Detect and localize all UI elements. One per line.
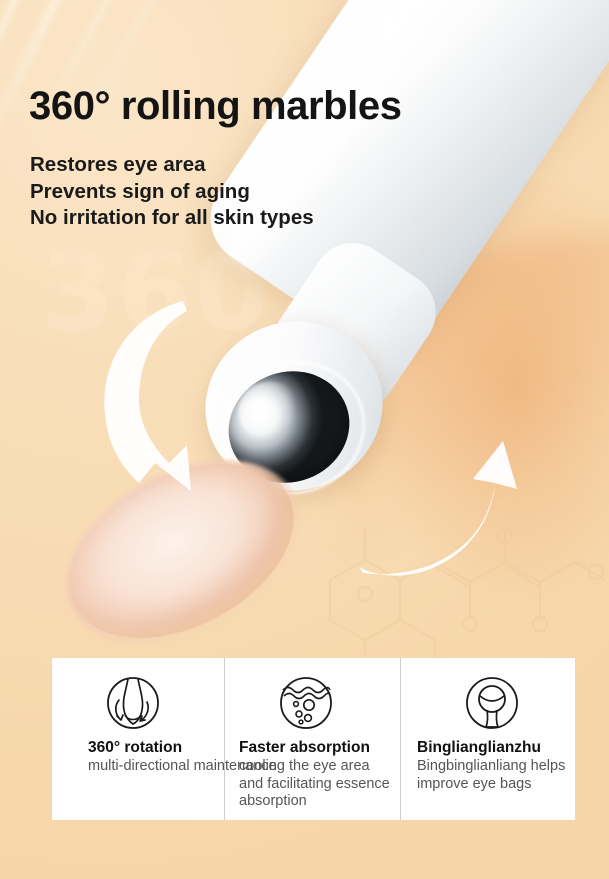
roller-rotation-icon	[102, 672, 164, 734]
feature-title: 360° rotation	[88, 738, 212, 757]
water-bubbles-absorption-icon	[275, 672, 337, 734]
hero-subheadings: Restores eye area Prevents sign of aging…	[30, 152, 314, 232]
feature-icon-wrap	[417, 672, 567, 734]
roller-ball-applicator-icon	[461, 672, 523, 734]
feature-icon-wrap	[239, 672, 392, 734]
feature-body: Bingbinglianliang helps improve eye bags	[417, 758, 567, 793]
feature-title: Faster absorption	[239, 738, 392, 757]
feature-panel: 360° rotation multi-directional maintena…	[52, 658, 575, 820]
feature-icon-wrap	[88, 672, 212, 734]
feature-column-rotation: 360° rotation multi-directional maintena…	[52, 658, 224, 820]
feature-title: Binglianglianzhu	[417, 738, 567, 757]
hero-subline: Prevents sign of aging	[30, 179, 314, 206]
rotation-arrow-left-icon	[95, 295, 240, 495]
hero-subline: No irritation for all skin types	[30, 205, 314, 232]
rotation-arrow-right-icon	[355, 435, 520, 585]
feature-body: cooling the eye area and facilitating es…	[239, 758, 392, 811]
product-marketing-image: 360 360° rolling marbles	[0, 0, 609, 879]
page-title: 360° rolling marbles	[29, 84, 402, 129]
hero-subline: Restores eye area	[30, 152, 314, 179]
feature-column-eyebags: Binglianglianzhu Bingbinglianliang helps…	[400, 658, 575, 820]
feature-body: multi-directional maintenance	[88, 758, 212, 776]
feature-column-absorption: Faster absorption cooling the eye area a…	[224, 658, 400, 820]
